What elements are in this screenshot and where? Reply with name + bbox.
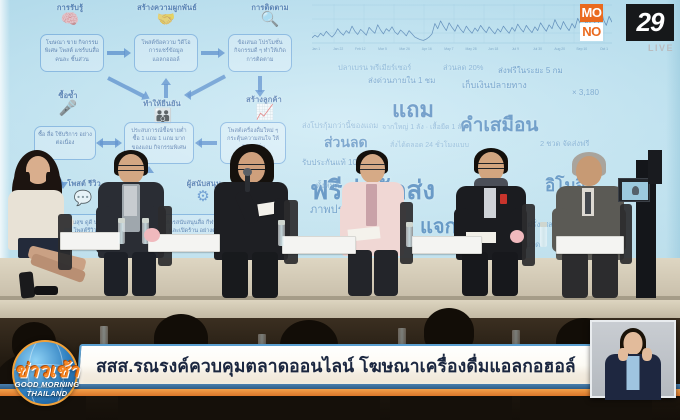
flower-arrangement-2 bbox=[510, 230, 524, 243]
bottle-cap-5 bbox=[540, 222, 547, 227]
svg-text:Aug 20: Aug 20 bbox=[554, 47, 565, 51]
word-cloud-term: ปลาเบรน พรีเมียร์เซอร์ bbox=[338, 62, 411, 74]
logo-no: NO bbox=[580, 23, 603, 41]
water-bottle-3 bbox=[278, 224, 285, 246]
bottle-cap-1 bbox=[118, 218, 125, 223]
lower-third-orange-strip bbox=[0, 389, 680, 396]
flower-arrangement-1 bbox=[144, 228, 160, 242]
program-subtitle-2: THAILAND bbox=[4, 389, 90, 398]
arrow-head-right-1 bbox=[124, 48, 131, 58]
arrow-head-up-1 bbox=[161, 78, 171, 85]
lapel-pin bbox=[500, 194, 507, 204]
microphone-icon: 🎤 bbox=[53, 100, 83, 118]
line-chart-svg: Jan 1Jan 22Feb 12Mar 5Mar 26Apr 16May 7M… bbox=[312, 2, 612, 52]
flow-box-engage: โพสต์ข้อความ วิดีโอ การแชร์ข้อมูล แอลกอฮ… bbox=[134, 34, 198, 72]
svg-text:Jan 1: Jan 1 bbox=[312, 47, 320, 51]
svg-text:Oct 1: Oct 1 bbox=[600, 47, 608, 51]
svg-text:May 7: May 7 bbox=[444, 47, 453, 51]
word-cloud-term: ส่งโปรกุ้มกว่านี้ของแถม bbox=[302, 120, 378, 132]
svg-text:Jan 22: Jan 22 bbox=[333, 47, 343, 51]
svg-text:Mar 5: Mar 5 bbox=[378, 47, 387, 51]
svg-text:Jul 30: Jul 30 bbox=[533, 47, 542, 51]
interpreter-hand-left bbox=[618, 348, 628, 361]
word-cloud-term: จากใหญ่ 1 ลัง · เสื้อยืด 1 ลัง bbox=[382, 122, 465, 133]
table-card-5 bbox=[556, 236, 624, 254]
water-bottle-1 bbox=[118, 222, 125, 244]
review-icon: 💬 bbox=[68, 190, 98, 208]
word-cloud-term: × 3,180 bbox=[572, 88, 599, 97]
logo-mo: MO bbox=[580, 4, 603, 22]
word-cloud-term: ส่งด่วนภายใน 1 ชม bbox=[368, 74, 435, 87]
program-subtitle-1: GOOD MORNING bbox=[4, 380, 90, 389]
growth-people-icon: 📈 bbox=[250, 104, 280, 122]
program-badge: ข่าวเช้า GOOD MORNING THAILAND bbox=[4, 336, 90, 412]
svg-text:Jun 18: Jun 18 bbox=[488, 47, 498, 51]
bottle-cap-4 bbox=[406, 222, 413, 227]
broadcast-frame: การรับรู้ สร้างความผูกพันธ์ การติดตาม 🧠 … bbox=[0, 0, 680, 420]
handshake-icon: 🤝 bbox=[151, 11, 181, 29]
arrow-head-left-2 bbox=[195, 138, 202, 148]
svg-text:Jul 9: Jul 9 bbox=[512, 47, 519, 51]
word-cloud-term: ส่วนลด 20% bbox=[443, 62, 483, 74]
arrow-up-center bbox=[164, 84, 168, 98]
table-card-3 bbox=[282, 236, 356, 254]
word-cloud-term: ส่งฟรีในระยะ 5 กม bbox=[498, 64, 563, 77]
word-cloud-term: ทั้งหมด bbox=[316, 180, 339, 192]
word-cloud-term: 2 ชวด จัดส่งฟรี bbox=[540, 138, 589, 150]
mentions-line-chart: Jan 1Jan 22Feb 12Mar 5Mar 26Apr 16May 7M… bbox=[312, 2, 612, 52]
arrow-head-right-3 bbox=[115, 138, 122, 148]
flow-box-ads: โฆษณา ขาย กิจกรรมพิเศษ โพสต์ แชร์บนสื่อ … bbox=[40, 34, 104, 72]
chart-gridlines bbox=[312, 4, 612, 43]
word-cloud-term: คำเสมือน bbox=[460, 110, 538, 140]
table-card-1 bbox=[60, 232, 120, 250]
interpreter-shirt bbox=[627, 356, 640, 390]
necktie bbox=[366, 184, 377, 226]
camera-body bbox=[648, 150, 662, 184]
bottle-cap-2 bbox=[142, 218, 149, 223]
channel-logo: MO NO 29 bbox=[580, 4, 674, 44]
glasses-icon bbox=[118, 165, 144, 171]
arrow-head-right-2 bbox=[218, 48, 225, 58]
table-card-4 bbox=[412, 236, 482, 254]
chart-tick-labels: Jan 1Jan 22Feb 12Mar 5Mar 26Apr 16May 7M… bbox=[312, 47, 608, 51]
microphone-head-icon bbox=[243, 168, 252, 176]
word-cloud-term: ส่วนลด bbox=[324, 132, 368, 154]
target-audience-icon: 🔍 bbox=[255, 11, 285, 29]
bottle-cap-3 bbox=[278, 220, 285, 225]
glasses-icon bbox=[238, 164, 265, 170]
svg-text:Feb 12: Feb 12 bbox=[355, 47, 366, 51]
flow-box-follow: ข้อเสนอ โปรโมชั่น กิจกรรมดี ๆ ทำให้เกิดก… bbox=[228, 34, 292, 72]
chart-series-line bbox=[312, 5, 612, 40]
svg-text:Apr 16: Apr 16 bbox=[422, 47, 432, 51]
word-cloud-term: เก็บเงินปลายทาง bbox=[462, 78, 527, 92]
headline-text: สสส.รณรงค์ควบคุมตลาดออนไลน์ โฆษณาเครื่อง… bbox=[96, 349, 644, 383]
glasses-icon bbox=[478, 163, 504, 169]
word-cloud-term: สั่งได้ตลอด 24 ชั่วโมงแบบ bbox=[390, 140, 469, 151]
screen-edge-left bbox=[0, 0, 10, 300]
logo-29: 29 bbox=[626, 4, 674, 41]
svg-text:Sep 10: Sep 10 bbox=[576, 47, 587, 51]
arrow-engage-to-follow bbox=[201, 51, 219, 55]
camera-viewfinder bbox=[618, 178, 650, 202]
svg-text:Mar 26: Mar 26 bbox=[399, 47, 410, 51]
live-badge: LIVE bbox=[648, 43, 674, 53]
arrow-head-left-1 bbox=[96, 138, 103, 148]
water-bottle-4 bbox=[406, 226, 413, 247]
arrow-ads-to-engage bbox=[107, 51, 125, 55]
lower-third: สสส.รณรงค์ควบคุมตลาดออนไลน์ โฆษณาเครื่อง… bbox=[0, 340, 680, 400]
necktie bbox=[585, 192, 591, 214]
brain-icon: 🧠 bbox=[55, 11, 85, 29]
water-bottle-5 bbox=[540, 226, 547, 247]
svg-text:May 28: May 28 bbox=[466, 47, 477, 51]
interpreter-hand-right bbox=[642, 348, 652, 361]
glasses-icon bbox=[360, 164, 385, 170]
sign-language-inset bbox=[590, 320, 676, 398]
